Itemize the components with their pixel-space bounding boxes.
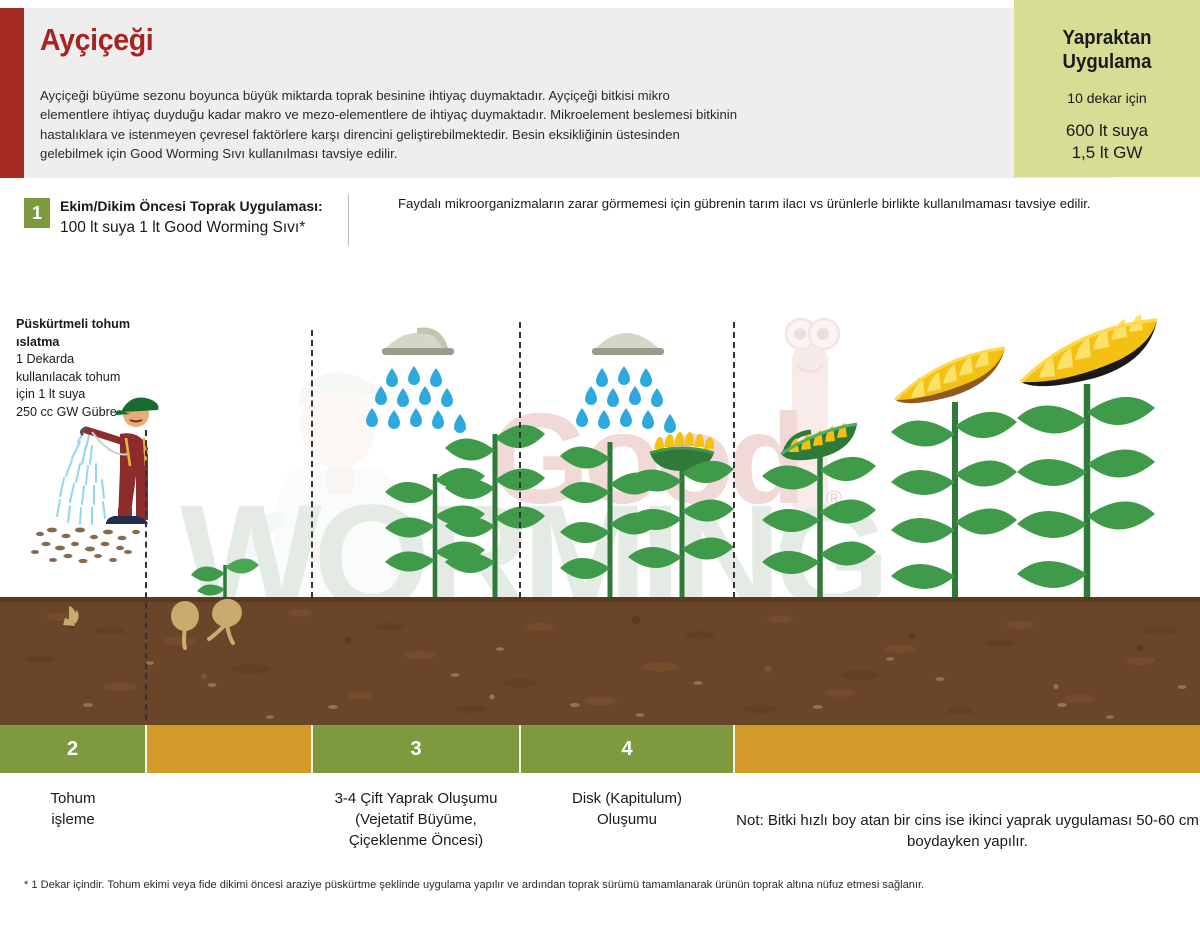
- seedling-icon-stage2: [185, 525, 265, 605]
- stage-label-3: 3-4 Çift Yaprak Oluşumu (Vejetatif Büyüm…: [290, 788, 542, 851]
- step-1-note: Faydalı mikroorganizmaların zarar görmem…: [398, 196, 1188, 211]
- step-1-divider: [348, 194, 349, 246]
- stage-segment-orange-2[interactable]: [735, 725, 1200, 773]
- sunflower-plant-bud-icon: [620, 425, 740, 600]
- sunflower-head-icon: [1021, 314, 1157, 386]
- side-panel-dose-line1: 600 lt suya: [1066, 121, 1148, 140]
- stage-label-2-line2: işleme: [51, 811, 94, 828]
- seed-icon-cracked: [55, 602, 95, 642]
- callout-line3: 1 Dekarda: [16, 352, 74, 366]
- stage-label-3-line3: Çiçeklenme Öncesi): [349, 832, 483, 849]
- stage-label-2: Tohum işleme: [0, 788, 146, 830]
- sunflower-mature-icon-1: [885, 330, 1030, 600]
- bottom-note: Not: Bitki hızlı boy atan bir cins ise i…: [735, 810, 1200, 852]
- side-panel-title: Yapraktan Uygulama: [1021, 26, 1194, 74]
- page-title: Ayçiçeği: [40, 22, 153, 58]
- sunflower-mature-icon-2: [1015, 312, 1180, 602]
- stage-label-2-line1: Tohum: [50, 790, 95, 807]
- callout-bold-line1: Püskürtmeli tohum: [16, 317, 130, 331]
- side-panel-title-line1: Yapraktan: [1063, 27, 1152, 49]
- step-1-detail: 100 lt suya 1 lt Good Worming Sıvı*: [60, 219, 305, 237]
- side-panel-dose: 600 lt suya 1,5 lt GW: [1014, 120, 1200, 164]
- side-panel-title-line2: Uygulama: [1063, 51, 1152, 73]
- callout-bold-line2: ıslatma: [16, 335, 59, 349]
- sunflower-plant-opening-icon: [755, 380, 880, 600]
- stage-divider-3: [519, 322, 521, 598]
- header-red-accent-bar: [0, 8, 24, 178]
- stage-segment-gap-orange-1[interactable]: [147, 725, 311, 773]
- sunflower-head-icon: [895, 348, 1005, 403]
- header-paragraph: Ayçiçeği büyüme sezonu boyunca büyük mik…: [40, 86, 740, 164]
- stage-label-4: Disk (Kapitulum) Oluşumu: [521, 788, 733, 830]
- stage-divider-2: [311, 330, 313, 598]
- step-1-number-badge: 1: [24, 198, 50, 228]
- stage-segment-4[interactable]: 4: [521, 725, 733, 773]
- stage-divider-4: [733, 322, 735, 598]
- side-panel-dose-line2: 1,5 lt GW: [1072, 143, 1143, 162]
- stage-segment-2[interactable]: 2: [0, 725, 145, 773]
- stage-label-4-line1: Disk (Kapitulum): [572, 790, 682, 807]
- sprayer-farmer-icon: [20, 380, 170, 600]
- step-1-title: Ekim/Dikim Öncesi Toprak Uygulaması:: [60, 198, 323, 214]
- sunflower-plant-icon-b: [440, 410, 550, 600]
- footnote: * 1 Dekar içindir. Tohum ekimi veya fide…: [24, 879, 1149, 891]
- stage-label-4-line2: Oluşumu: [597, 811, 657, 828]
- sunflower-head-opening-icon: [781, 423, 857, 460]
- stage-divider-1: [145, 430, 147, 720]
- stage-label-3-line1: 3-4 Çift Yaprak Oluşumu: [335, 790, 498, 807]
- stage-segment-3[interactable]: 3: [313, 725, 519, 773]
- side-panel-subtitle: 10 dekar için: [1014, 90, 1200, 106]
- stage-label-3-line2: (Vejetatif Büyüme,: [355, 811, 477, 828]
- infographic-page: Ayçiçeği Ayçiçeği büyüme sezonu boyunca …: [0, 0, 1200, 933]
- stage-bar: 2 3 4: [0, 725, 1200, 773]
- seed-icon-pair: [165, 600, 255, 655]
